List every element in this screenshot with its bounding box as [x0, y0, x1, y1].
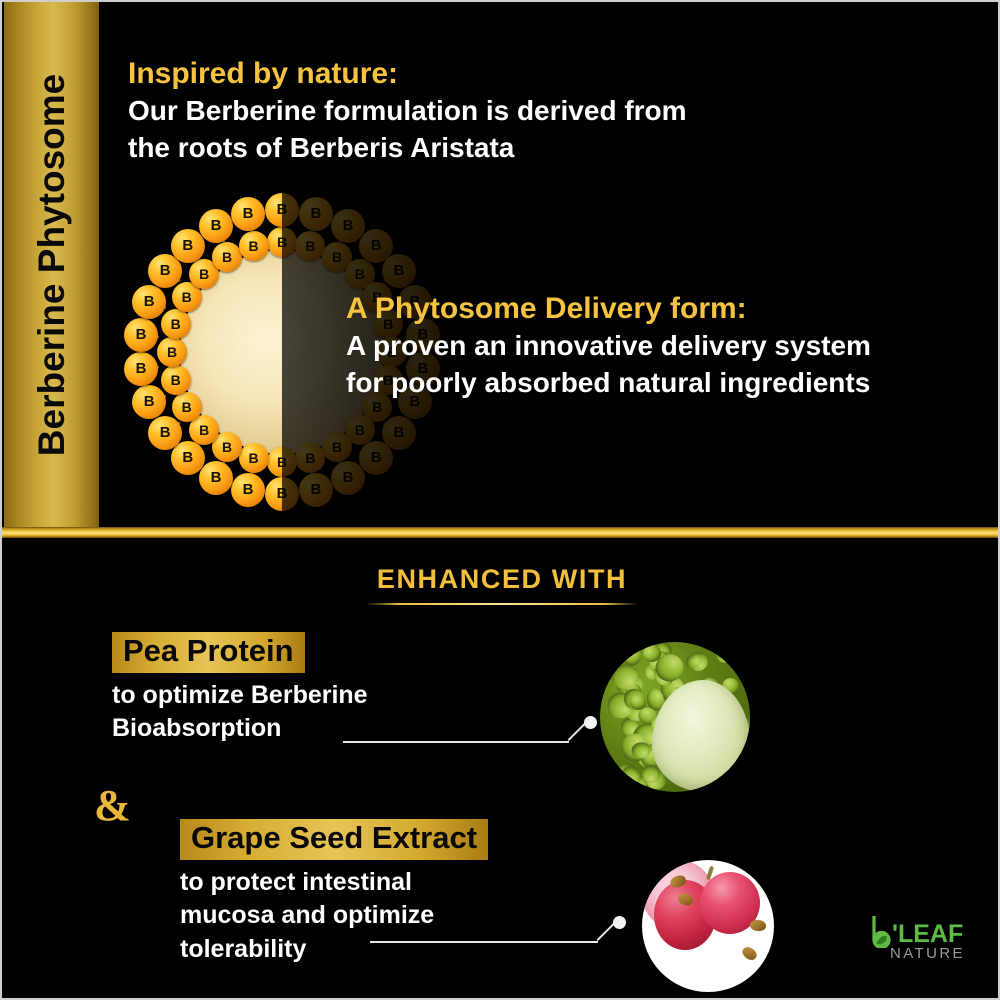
enhanced-with-title: ENHANCED WITH — [377, 564, 627, 595]
pea-protein-photo — [600, 642, 750, 792]
connector-line — [370, 941, 598, 943]
grape-seed-loose — [749, 919, 767, 933]
ingredient-description: to optimize Berberine Bioabsorption — [112, 679, 368, 746]
berberine-bead: B — [172, 392, 202, 422]
ingredient-pea-protein: Pea Protein to optimize Berberine Bioabs… — [112, 632, 368, 746]
intro-heading: Inspired by nature: — [128, 55, 828, 93]
grape-photo — [642, 860, 774, 992]
ingredient-name-tag: Pea Protein — [112, 632, 305, 673]
bottom-section: ENHANCED WITH Pea Protein to optimize Be… — [2, 538, 1000, 1000]
brand-logo: 'LEAF NATURE — [868, 914, 976, 970]
grape-seed-loose — [740, 944, 759, 962]
delivery-heading: A Phytosome Delivery form: — [346, 290, 966, 328]
ingredient-desc-line-2: mucosa and optimize — [180, 899, 488, 933]
intro-line-1: Our Berberine formulation is derived fro… — [128, 93, 828, 130]
berberine-bead: B — [239, 231, 269, 261]
gold-divider-bar — [2, 527, 1000, 538]
berberine-bead: B — [124, 352, 158, 386]
ingredient-description: to protect intestinal mucosa and optimiz… — [180, 866, 488, 967]
bleaf-logo-icon: 'LEAF — [868, 914, 976, 948]
berberine-bead: B — [239, 443, 269, 473]
enhanced-with-header: ENHANCED WITH — [2, 564, 1000, 605]
ingredient-desc-line-2: Bioabsorption — [112, 712, 368, 746]
side-banner: Berberine Phytosome — [4, 2, 99, 527]
berberine-bead: B — [199, 209, 233, 243]
berberine-bead: B — [231, 197, 265, 231]
top-section: Berberine Phytosome Inspired by nature: … — [2, 2, 1000, 529]
delivery-line-2: for poorly absorbed natural ingredients — [346, 365, 966, 402]
infographic-page: Berberine Phytosome Inspired by nature: … — [0, 0, 1000, 1000]
side-banner-label: Berberine Phytosome — [31, 73, 73, 455]
pea-seed — [714, 644, 734, 664]
berberine-bead: B — [132, 285, 166, 319]
connector-line — [343, 741, 569, 743]
brand-logo-subtitle: NATURE — [890, 945, 965, 962]
delivery-line-1: A proven an innovative delivery system — [346, 328, 966, 365]
intro-text-block: Inspired by nature: Our Berberine formul… — [128, 55, 828, 167]
berberine-bead: B — [231, 473, 265, 507]
delivery-text-block: A Phytosome Delivery form: A proven an i… — [346, 290, 966, 402]
connector-dot — [613, 916, 626, 929]
berberine-bead: B — [148, 416, 182, 450]
berberine-bead: B — [171, 229, 205, 263]
berberine-bead: B — [157, 337, 187, 367]
berberine-bead: B — [161, 309, 191, 339]
connector-dot — [584, 716, 597, 729]
berberine-bead: B — [171, 441, 205, 475]
svg-text:'LEAF: 'LEAF — [892, 920, 963, 948]
intro-line-2: the roots of Berberis Aristata — [128, 130, 828, 167]
pea-seed — [631, 741, 650, 758]
ampersand-symbol: & — [94, 780, 131, 831]
ingredient-desc-line-3: tolerability — [180, 933, 488, 967]
ingredient-name-tag: Grape Seed Extract — [180, 819, 488, 860]
ingredient-desc-line-1: to optimize Berberine — [112, 679, 368, 713]
enhanced-with-underline — [367, 603, 637, 605]
berberine-bead: B — [124, 318, 158, 352]
ingredient-grape-seed-extract: Grape Seed Extract to protect intestinal… — [180, 819, 488, 966]
ingredient-desc-line-1: to protect intestinal — [180, 866, 488, 900]
berberine-bead: B — [212, 242, 242, 272]
berberine-bead: B — [199, 461, 233, 495]
